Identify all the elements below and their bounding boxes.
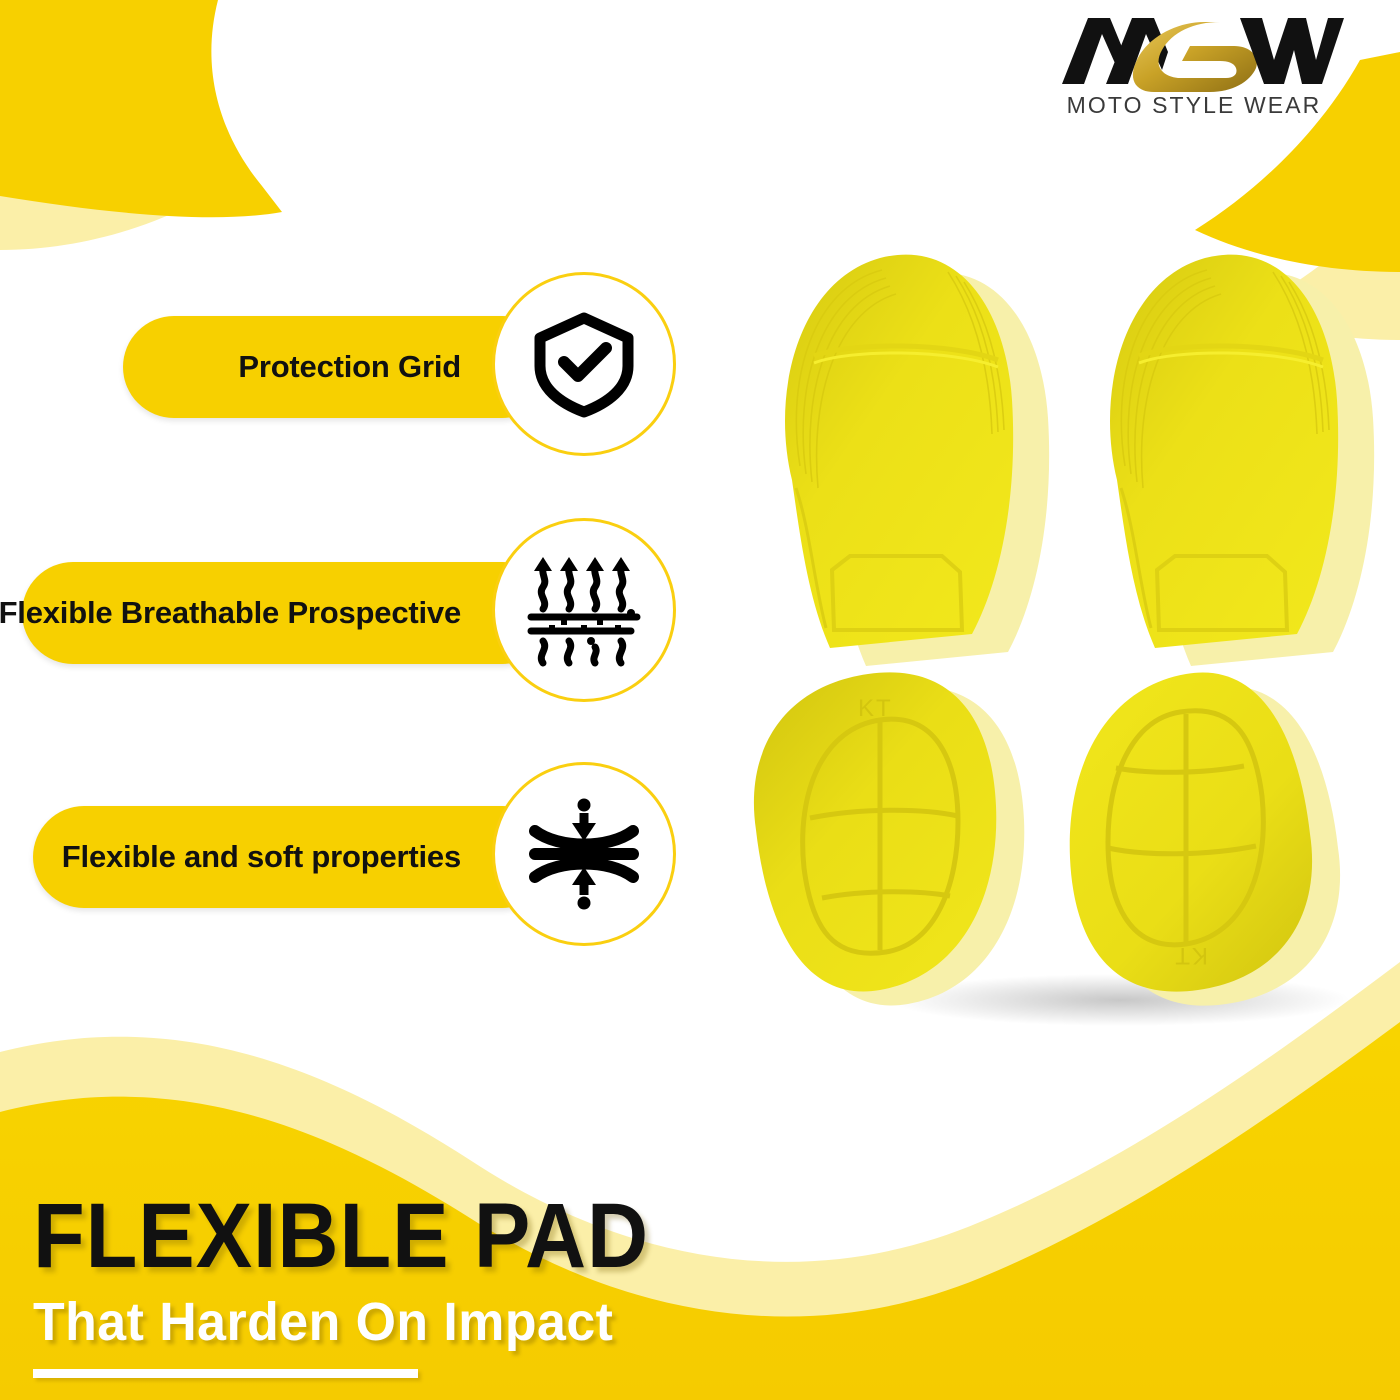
headline-block: FLEXIBLE PAD That Harden On Impact (33, 1190, 703, 1378)
feature-pill-2[interactable]: Flexible Breathable Prospective (22, 562, 553, 664)
brand-tagline: MOTO STYLE WEAR (1044, 92, 1344, 119)
feature-row-flexible-soft: Flexible and soft properties (0, 762, 700, 952)
feature-pill-1[interactable]: Protection Grid (123, 316, 553, 418)
feature-label-3: Flexible and soft properties (62, 839, 461, 875)
headline-main: FLEXIBLE PAD (33, 1190, 649, 1282)
headline-sub: That Harden On Impact (33, 1294, 676, 1351)
knee-pad-left (785, 255, 1049, 666)
product-image-group: KT KT (700, 230, 1400, 1060)
infographic-canvas: MOTO STYLE WEAR Protection Grid Flexible… (0, 0, 1400, 1400)
hip-pad-left: KT (754, 672, 1024, 1005)
headline-underline (33, 1369, 418, 1378)
brand-logo: MOTO STYLE WEAR (1044, 8, 1344, 119)
feature-icon-circle-1 (492, 272, 676, 456)
hip-pad-right: KT (1070, 672, 1340, 1005)
feature-pill-3[interactable]: Flexible and soft properties (33, 806, 553, 908)
breathable-airflow-icon (525, 551, 643, 669)
feature-label-2: Flexible Breathable Prospective (0, 595, 461, 631)
corner-shape-top-left (0, 0, 282, 217)
feature-icon-circle-3 (492, 762, 676, 946)
compression-flex-icon (525, 795, 643, 913)
feature-row-breathable: Flexible Breathable Prospective (0, 518, 700, 708)
pads-illustration: KT KT (700, 230, 1400, 1060)
shield-check-icon (528, 308, 640, 420)
feature-label-1: Protection Grid (238, 349, 461, 385)
knee-pad-right (1110, 255, 1374, 666)
feature-row-protection-grid: Protection Grid (0, 272, 700, 462)
msw-logo-mark (1044, 8, 1344, 94)
feature-icon-circle-2 (492, 518, 676, 702)
